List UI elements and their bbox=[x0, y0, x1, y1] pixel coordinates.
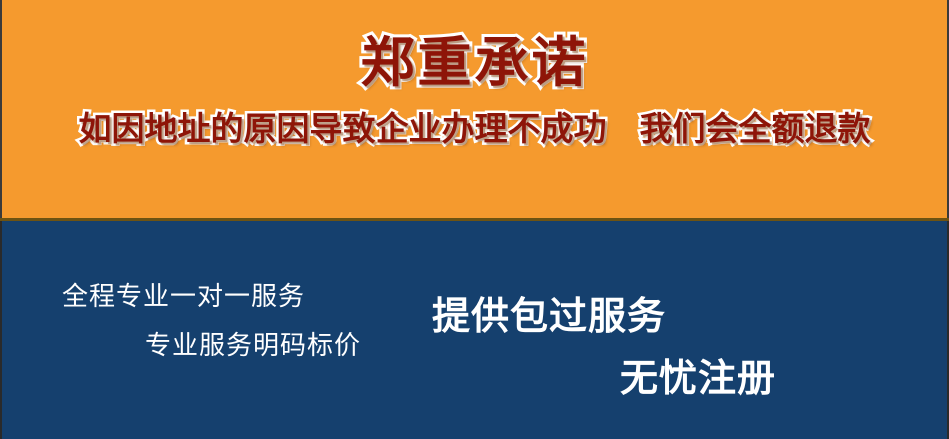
service-item-transparent-pricing: 专业服务明码标价 bbox=[145, 333, 361, 359]
service-highlight-guaranteed: 提供包过服务 bbox=[432, 297, 666, 335]
services-panel: 全程专业一对一服务 专业服务明码标价 提供包过服务 无忧注册 bbox=[0, 221, 949, 439]
service-item-one-on-one: 全程专业一对一服务 bbox=[62, 284, 305, 310]
promise-subtitle: 如因地址的原因导致企业办理不成功 我们会全额退款 bbox=[2, 112, 947, 145]
service-highlight-worry-free: 无忧注册 bbox=[620, 359, 776, 397]
promotional-banner: 郑重承诺 如因地址的原因导致企业办理不成功 我们会全额退款 全程专业一对一服务 … bbox=[0, 0, 949, 439]
promise-title: 郑重承诺 bbox=[2, 36, 947, 90]
promise-panel: 郑重承诺 如因地址的原因导致企业办理不成功 我们会全额退款 bbox=[0, 0, 949, 218]
